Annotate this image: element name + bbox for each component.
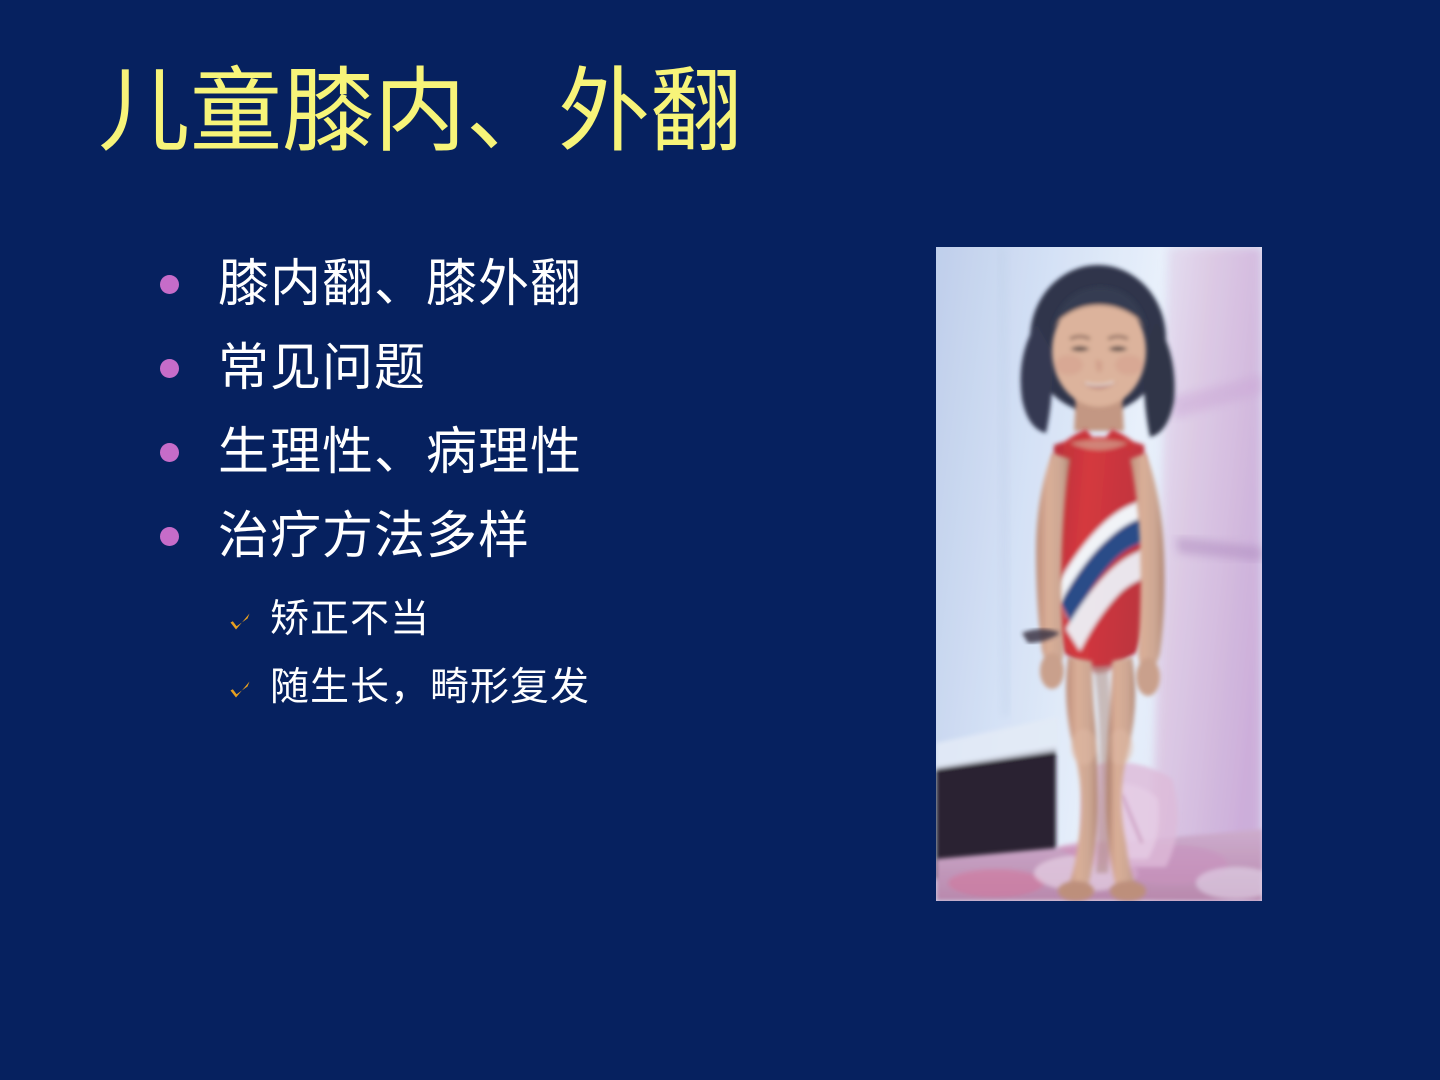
bullet-dot-icon bbox=[160, 527, 179, 546]
sub-bullet-list: 矫正不当 随生长，畸形复发 bbox=[228, 586, 928, 722]
bullet-label: 治疗方法多样 bbox=[218, 495, 530, 579]
slide: 儿童膝内、外翻 膝内翻、膝外翻 常见问题 生理性、病理性 治疗方法多样 bbox=[0, 0, 1440, 1080]
check-icon bbox=[228, 610, 252, 634]
child-standing-photo bbox=[936, 247, 1262, 901]
list-item: 膝内翻、膝外翻 bbox=[160, 243, 860, 327]
sub-list-item: 随生长，畸形复发 bbox=[228, 654, 928, 722]
list-item: 治疗方法多样 bbox=[160, 495, 860, 579]
bullet-label: 常见问题 bbox=[218, 327, 426, 411]
sub-bullet-label: 随生长，畸形复发 bbox=[270, 654, 590, 722]
bullet-dot-icon bbox=[160, 275, 179, 294]
bullet-list: 膝内翻、膝外翻 常见问题 生理性、病理性 治疗方法多样 bbox=[160, 243, 860, 579]
bullet-dot-icon bbox=[160, 359, 179, 378]
sub-bullet-label: 矫正不当 bbox=[270, 586, 430, 654]
sub-list-item: 矫正不当 bbox=[228, 586, 928, 654]
bullet-dot-icon bbox=[160, 443, 179, 462]
list-item: 常见问题 bbox=[160, 327, 860, 411]
page-title: 儿童膝内、外翻 bbox=[98, 60, 918, 163]
list-item: 生理性、病理性 bbox=[160, 411, 860, 495]
bullet-label: 生理性、病理性 bbox=[218, 411, 582, 495]
check-icon bbox=[228, 678, 252, 702]
bullet-label: 膝内翻、膝外翻 bbox=[218, 243, 582, 327]
